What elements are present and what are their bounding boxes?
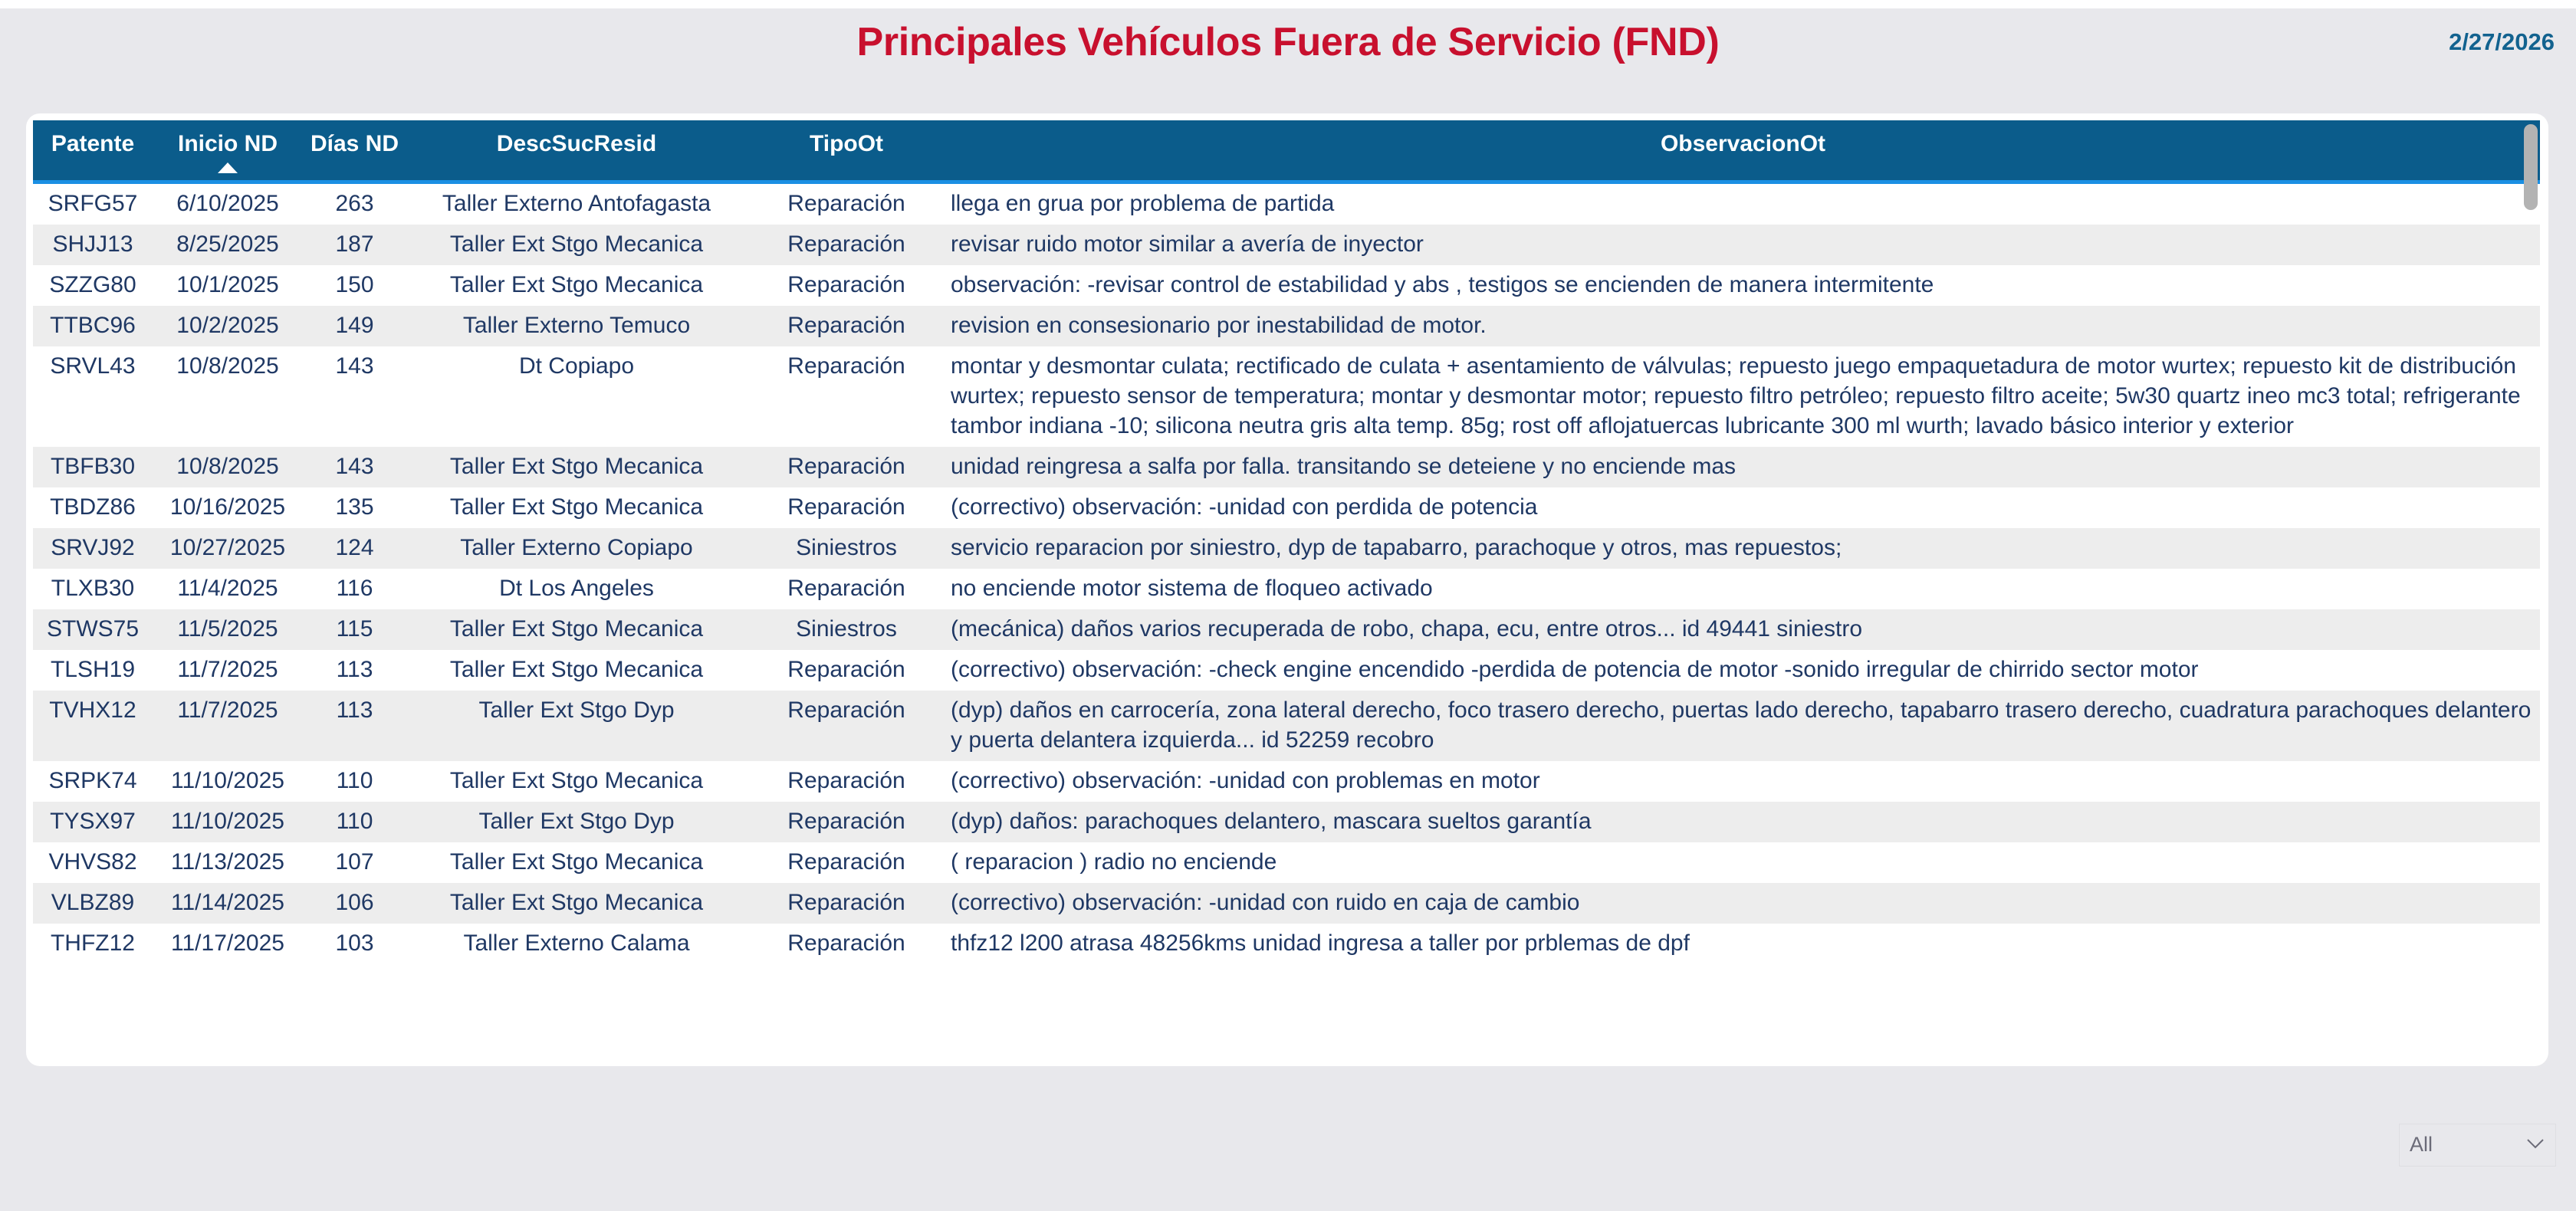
table-header-row: Patente Inicio ND Días ND DescSucResid — [33, 120, 2540, 182]
cell-obs: (correctivo) observación: -check engine … — [946, 650, 2540, 691]
cell-patente: SRVL43 — [33, 346, 153, 447]
cell-obs: llega en grua por problema de partida — [946, 182, 2540, 225]
cell-inicio: 10/16/2025 — [153, 487, 303, 528]
cell-patente: TVHX12 — [33, 691, 153, 761]
cell-obs: no enciende motor sistema de floqueo act… — [946, 569, 2540, 609]
cell-tipo: Reparación — [747, 306, 946, 346]
cell-inicio: 11/4/2025 — [153, 569, 303, 609]
cell-obs: thfz12 l200 atrasa 48256kms unidad ingre… — [946, 924, 2540, 964]
cell-obs: montar y desmontar culata; rectificado d… — [946, 346, 2540, 447]
column-header-inicio-nd-label: Inicio ND — [178, 131, 278, 156]
chevron-down-icon[interactable] — [2526, 1138, 2545, 1149]
cell-obs: (correctivo) observación: -unidad con pr… — [946, 761, 2540, 802]
fnd-table: Patente Inicio ND Días ND DescSucResid — [33, 120, 2540, 964]
cell-inicio: 8/25/2025 — [153, 225, 303, 265]
column-header-patente[interactable]: Patente — [33, 120, 153, 182]
cell-inicio: 11/14/2025 — [153, 883, 303, 924]
table-row[interactable]: SRVL4310/8/2025143Dt CopiapoReparaciónmo… — [33, 346, 2540, 447]
cell-tipo: Reparación — [747, 883, 946, 924]
table-row[interactable]: SRPK7411/10/2025110Taller Ext Stgo Mecan… — [33, 761, 2540, 802]
cell-patente: SHJJ13 — [33, 225, 153, 265]
cell-patente: TLSH19 — [33, 650, 153, 691]
cell-obs: servicio reparacion por siniestro, dyp d… — [946, 528, 2540, 569]
table-row[interactable]: TYSX9711/10/2025110Taller Ext Stgo DypRe… — [33, 802, 2540, 842]
column-header-descsucresid-label: DescSucResid — [497, 131, 656, 156]
cell-inicio: 11/10/2025 — [153, 802, 303, 842]
table-row[interactable]: SRVJ9210/27/2025124Taller Externo Copiap… — [33, 528, 2540, 569]
cell-sucursal: Taller Ext Stgo Mecanica — [406, 883, 747, 924]
table-row[interactable]: TTBC9610/2/2025149Taller Externo TemucoR… — [33, 306, 2540, 346]
cell-sucursal: Dt Copiapo — [406, 346, 747, 447]
cell-dias: 149 — [303, 306, 406, 346]
cell-dias: 143 — [303, 346, 406, 447]
cell-tipo: Siniestros — [747, 609, 946, 650]
table-row[interactable]: TLXB3011/4/2025116Dt Los AngelesReparaci… — [33, 569, 2540, 609]
cell-tipo: Reparación — [747, 265, 946, 306]
cell-obs: unidad reingresa a salfa por falla. tran… — [946, 447, 2540, 487]
bottom-bar: All — [0, 1070, 2576, 1211]
table-row[interactable]: SHJJ138/25/2025187Taller Ext Stgo Mecani… — [33, 225, 2540, 265]
cell-sucursal: Taller Ext Stgo Mecanica — [406, 487, 747, 528]
column-header-patente-label: Patente — [51, 131, 134, 156]
data-table-card: Patente Inicio ND Días ND DescSucResid — [26, 113, 2548, 1066]
cell-inicio: 10/8/2025 — [153, 346, 303, 447]
cell-dias: 263 — [303, 182, 406, 225]
cell-sucursal: Taller Externo Copiapo — [406, 528, 747, 569]
table-row[interactable]: TVHX1211/7/2025113Taller Ext Stgo DypRep… — [33, 691, 2540, 761]
cell-sucursal: Taller Ext Stgo Mecanica — [406, 265, 747, 306]
cell-tipo: Reparación — [747, 487, 946, 528]
cell-dias: 110 — [303, 761, 406, 802]
cell-tipo: Reparación — [747, 569, 946, 609]
table-row[interactable]: THFZ1211/17/2025103Taller Externo Calama… — [33, 924, 2540, 964]
cell-tipo: Reparación — [747, 924, 946, 964]
cell-patente: VHVS82 — [33, 842, 153, 883]
cell-obs: (correctivo) observación: -unidad con ru… — [946, 883, 2540, 924]
table-row[interactable]: SZZG8010/1/2025150Taller Ext Stgo Mecani… — [33, 265, 2540, 306]
cell-dias: 116 — [303, 569, 406, 609]
cell-inicio: 10/2/2025 — [153, 306, 303, 346]
column-header-tipoot-label: TipoOt — [810, 131, 883, 156]
cell-patente: SZZG80 — [33, 265, 153, 306]
cell-tipo: Siniestros — [747, 528, 946, 569]
scrollbar-thumb[interactable] — [2524, 124, 2538, 210]
table-row[interactable]: TBFB3010/8/2025143Taller Ext Stgo Mecani… — [33, 447, 2540, 487]
cell-dias: 115 — [303, 609, 406, 650]
cell-dias: 150 — [303, 265, 406, 306]
sort-ascending-icon — [218, 162, 238, 173]
cell-dias: 124 — [303, 528, 406, 569]
cell-dias: 143 — [303, 447, 406, 487]
table-row[interactable]: VLBZ8911/14/2025106Taller Ext Stgo Mecan… — [33, 883, 2540, 924]
cell-sucursal: Taller Ext Stgo Mecanica — [406, 225, 747, 265]
cell-sucursal: Taller Ext Stgo Dyp — [406, 802, 747, 842]
cell-inicio: 11/10/2025 — [153, 761, 303, 802]
cell-sucursal: Dt Los Angeles — [406, 569, 747, 609]
cell-dias: 187 — [303, 225, 406, 265]
cell-sucursal: Taller Ext Stgo Mecanica — [406, 842, 747, 883]
column-header-observacionot-label: ObservacionOt — [1661, 131, 1825, 156]
column-header-dias-nd-label: Días ND — [310, 131, 399, 156]
table-row[interactable]: STWS7511/5/2025115Taller Ext Stgo Mecani… — [33, 609, 2540, 650]
cell-tipo: Reparación — [747, 842, 946, 883]
cell-inicio: 11/7/2025 — [153, 650, 303, 691]
cell-tipo: Reparación — [747, 447, 946, 487]
report-header: Principales Vehículos Fuera de Servicio … — [0, 8, 2576, 82]
cell-patente: VLBZ89 — [33, 883, 153, 924]
cell-patente: TTBC96 — [33, 306, 153, 346]
cell-patente: TBFB30 — [33, 447, 153, 487]
cell-patente: THFZ12 — [33, 924, 153, 964]
cell-sucursal: Taller Ext Stgo Mecanica — [406, 650, 747, 691]
cell-sucursal: Taller Ext Stgo Mecanica — [406, 447, 747, 487]
cell-sucursal: Taller Ext Stgo Dyp — [406, 691, 747, 761]
cell-tipo: Reparación — [747, 182, 946, 225]
cell-inicio: 11/5/2025 — [153, 609, 303, 650]
cell-inicio: 6/10/2025 — [153, 182, 303, 225]
cell-inicio: 11/13/2025 — [153, 842, 303, 883]
table-vertical-scrollbar[interactable] — [2524, 124, 2538, 1055]
cell-sucursal: Taller Externo Calama — [406, 924, 747, 964]
cell-sucursal: Taller Ext Stgo Mecanica — [406, 761, 747, 802]
cell-tipo: Reparación — [747, 225, 946, 265]
all-filter-dropdown[interactable]: All — [2399, 1124, 2556, 1167]
cell-obs: (correctivo) observación: -unidad con pe… — [946, 487, 2540, 528]
column-header-tipoot[interactable]: TipoOt — [747, 120, 946, 182]
report-page: Principales Vehículos Fuera de Servicio … — [0, 0, 2576, 1211]
column-header-inicio-nd[interactable]: Inicio ND — [153, 120, 303, 182]
cell-sucursal: Taller Externo Temuco — [406, 306, 747, 346]
all-filter-value: All — [2410, 1133, 2433, 1157]
cell-tipo: Reparación — [747, 650, 946, 691]
cell-tipo: Reparación — [747, 346, 946, 447]
table-body: SRFG576/10/2025263Taller Externo Antofag… — [33, 182, 2540, 965]
cell-obs: ( reparacion ) radio no enciende — [946, 842, 2540, 883]
cell-obs: (dyp) daños en carrocería, zona lateral … — [946, 691, 2540, 761]
cell-obs: (mecánica) daños varios recuperada de ro… — [946, 609, 2540, 650]
cell-obs: revision en consesionario por inestabili… — [946, 306, 2540, 346]
cell-dias: 113 — [303, 650, 406, 691]
cell-inicio: 11/17/2025 — [153, 924, 303, 964]
cell-dias: 107 — [303, 842, 406, 883]
table-header: Patente Inicio ND Días ND DescSucResid — [33, 120, 2540, 182]
cell-patente: TLXB30 — [33, 569, 153, 609]
cell-obs: (dyp) daños: parachoques delantero, masc… — [946, 802, 2540, 842]
table-row[interactable]: TLSH1911/7/2025113Taller Ext Stgo Mecani… — [33, 650, 2540, 691]
top-white-strip — [0, 0, 2576, 8]
cell-obs: observación: -revisar control de estabil… — [946, 265, 2540, 306]
table-scroll-region[interactable]: Patente Inicio ND Días ND DescSucResid — [26, 113, 2548, 1066]
column-header-observacionot[interactable]: ObservacionOt — [946, 120, 2540, 182]
table-row[interactable]: SRFG576/10/2025263Taller Externo Antofag… — [33, 182, 2540, 225]
report-date: 2/27/2026 — [2449, 28, 2555, 56]
cell-dias: 110 — [303, 802, 406, 842]
cell-patente: SRPK74 — [33, 761, 153, 802]
cell-patente: TYSX97 — [33, 802, 153, 842]
cell-inicio: 10/8/2025 — [153, 447, 303, 487]
cell-dias: 135 — [303, 487, 406, 528]
table-row[interactable]: VHVS8211/13/2025107Taller Ext Stgo Mecan… — [33, 842, 2540, 883]
cell-dias: 113 — [303, 691, 406, 761]
cell-tipo: Reparación — [747, 802, 946, 842]
cell-tipo: Reparación — [747, 691, 946, 761]
cell-sucursal: Taller Ext Stgo Mecanica — [406, 609, 747, 650]
cell-obs: revisar ruido motor similar a avería de … — [946, 225, 2540, 265]
cell-dias: 103 — [303, 924, 406, 964]
column-header-dias-nd[interactable]: Días ND — [303, 120, 406, 182]
cell-patente: TBDZ86 — [33, 487, 153, 528]
page-title: Principales Vehículos Fuera de Servicio … — [0, 19, 2576, 65]
cell-tipo: Reparación — [747, 761, 946, 802]
cell-patente: SRFG57 — [33, 182, 153, 225]
cell-inicio: 10/27/2025 — [153, 528, 303, 569]
table-row[interactable]: TBDZ8610/16/2025135Taller Ext Stgo Mecan… — [33, 487, 2540, 528]
cell-sucursal: Taller Externo Antofagasta — [406, 182, 747, 225]
cell-patente: STWS75 — [33, 609, 153, 650]
cell-patente: SRVJ92 — [33, 528, 153, 569]
cell-inicio: 10/1/2025 — [153, 265, 303, 306]
column-header-descsucresid[interactable]: DescSucResid — [406, 120, 747, 182]
cell-inicio: 11/7/2025 — [153, 691, 303, 761]
cell-dias: 106 — [303, 883, 406, 924]
